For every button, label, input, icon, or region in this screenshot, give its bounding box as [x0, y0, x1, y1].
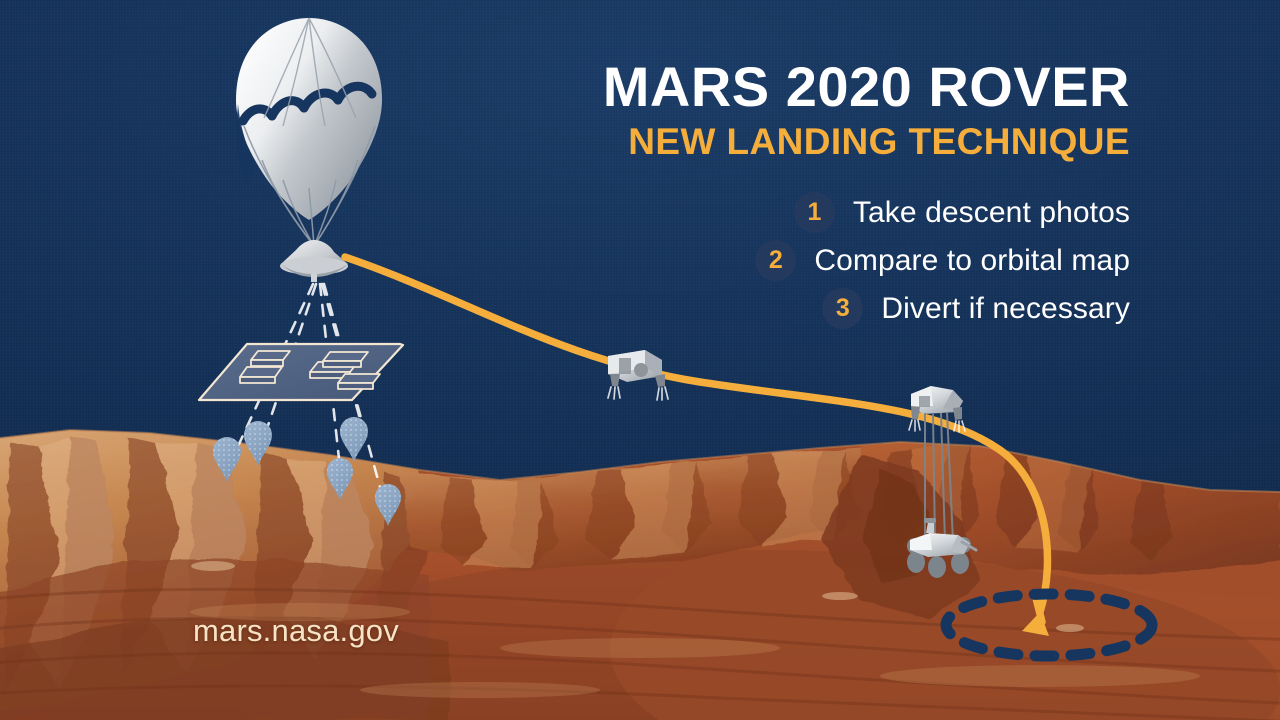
sky-crane-descent-stage-icon	[909, 386, 965, 542]
mars-rover-icon	[907, 518, 976, 578]
mars-2020-landing-infographic: MARS 2020 ROVER NEW LANDING TECHNIQUE 1 …	[0, 0, 1280, 720]
trajectory-layer	[0, 0, 1280, 720]
descent-stage-icon	[608, 350, 668, 400]
landing-ellipse-icon	[946, 594, 1152, 656]
